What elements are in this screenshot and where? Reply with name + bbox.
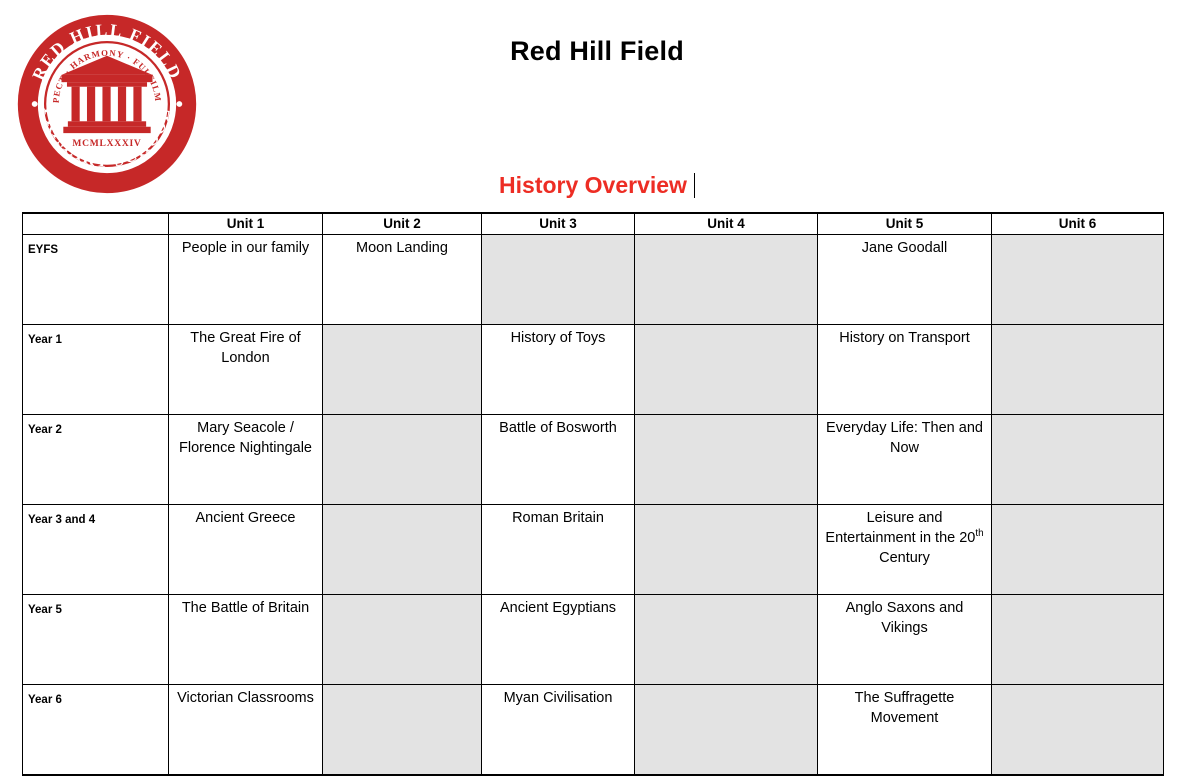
- table-body: EYFSPeople in our familyMoon LandingJane…: [23, 235, 1164, 776]
- unit-cell-empty[interactable]: [992, 685, 1164, 776]
- table-row: Year 5The Battle of BritainAncient Egypt…: [23, 595, 1164, 685]
- column-header-unit-2: Unit 2: [323, 213, 482, 235]
- table-row: Year 1The Great Fire of LondonHistory of…: [23, 325, 1164, 415]
- table-corner-cell: [23, 213, 169, 235]
- unit-cell-empty[interactable]: [635, 235, 818, 325]
- unit-cell[interactable]: Battle of Bosworth: [482, 415, 635, 505]
- unit-cell[interactable]: Myan Civilisation: [482, 685, 635, 776]
- unit-cell-empty[interactable]: [992, 505, 1164, 595]
- table-header-row: Unit 1 Unit 2 Unit 3 Unit 4 Unit 5 Unit …: [23, 213, 1164, 235]
- year-group-label: EYFS: [23, 235, 169, 325]
- unit-cell-empty[interactable]: [992, 595, 1164, 685]
- unit-cell[interactable]: Ancient Greece: [169, 505, 323, 595]
- unit-cell-empty[interactable]: [635, 325, 818, 415]
- unit-cell-empty[interactable]: [992, 235, 1164, 325]
- year-group-label: Year 6: [23, 685, 169, 776]
- history-overview-table: Unit 1 Unit 2 Unit 3 Unit 4 Unit 5 Unit …: [22, 212, 1164, 776]
- unit-cell[interactable]: History on Transport: [818, 325, 992, 415]
- unit-cell[interactable]: Roman Britain: [482, 505, 635, 595]
- unit-cell-empty[interactable]: [992, 415, 1164, 505]
- logo-founded-year: MCMLXXXIV: [72, 138, 141, 149]
- unit-cell-empty[interactable]: [323, 685, 482, 776]
- table-row: Year 2Mary Seacole / Florence Nightingal…: [23, 415, 1164, 505]
- unit-cell[interactable]: Moon Landing: [323, 235, 482, 325]
- unit-cell[interactable]: People in our family: [169, 235, 323, 325]
- unit-cell-empty[interactable]: [635, 505, 818, 595]
- unit-cell[interactable]: Mary Seacole / Florence Nightingale: [169, 415, 323, 505]
- unit-cell-empty[interactable]: [323, 505, 482, 595]
- table-row: EYFSPeople in our familyMoon LandingJane…: [23, 235, 1164, 325]
- table-row: Year 3 and 4Ancient GreeceRoman BritainL…: [23, 505, 1164, 595]
- unit-cell-empty[interactable]: [635, 595, 818, 685]
- page-title: Red Hill Field: [0, 36, 1194, 67]
- unit-cell-empty[interactable]: [482, 235, 635, 325]
- subtitle-row: History Overview: [0, 172, 1194, 199]
- unit-cell[interactable]: The Suffragette Movement: [818, 685, 992, 776]
- year-group-label: Year 2: [23, 415, 169, 505]
- page-subtitle: History Overview: [499, 172, 687, 198]
- unit-cell[interactable]: The Great Fire of London: [169, 325, 323, 415]
- unit-cell-empty[interactable]: [323, 415, 482, 505]
- unit-cell-empty[interactable]: [635, 685, 818, 776]
- unit-cell-empty[interactable]: [992, 325, 1164, 415]
- unit-cell-empty[interactable]: [635, 415, 818, 505]
- unit-cell[interactable]: Anglo Saxons and Vikings: [818, 595, 992, 685]
- unit-cell[interactable]: Victorian Classrooms: [169, 685, 323, 776]
- year-group-label: Year 5: [23, 595, 169, 685]
- column-header-unit-6: Unit 6: [992, 213, 1164, 235]
- unit-cell[interactable]: Leisure and Entertainment in the 20th Ce…: [818, 505, 992, 595]
- column-header-unit-5: Unit 5: [818, 213, 992, 235]
- unit-cell-empty[interactable]: [323, 325, 482, 415]
- column-header-unit-3: Unit 3: [482, 213, 635, 235]
- year-group-label: Year 3 and 4: [23, 505, 169, 595]
- text-cursor-caret: [694, 173, 695, 198]
- unit-cell[interactable]: History of Toys: [482, 325, 635, 415]
- year-group-label: Year 1: [23, 325, 169, 415]
- unit-cell[interactable]: Ancient Egyptians: [482, 595, 635, 685]
- unit-cell[interactable]: The Battle of Britain: [169, 595, 323, 685]
- unit-cell[interactable]: Everyday Life: Then and Now: [818, 415, 992, 505]
- unit-cell-empty[interactable]: [323, 595, 482, 685]
- table-row: Year 6Victorian ClassroomsMyan Civilisat…: [23, 685, 1164, 776]
- column-header-unit-4: Unit 4: [635, 213, 818, 235]
- unit-cell[interactable]: Jane Goodall: [818, 235, 992, 325]
- column-header-unit-1: Unit 1: [169, 213, 323, 235]
